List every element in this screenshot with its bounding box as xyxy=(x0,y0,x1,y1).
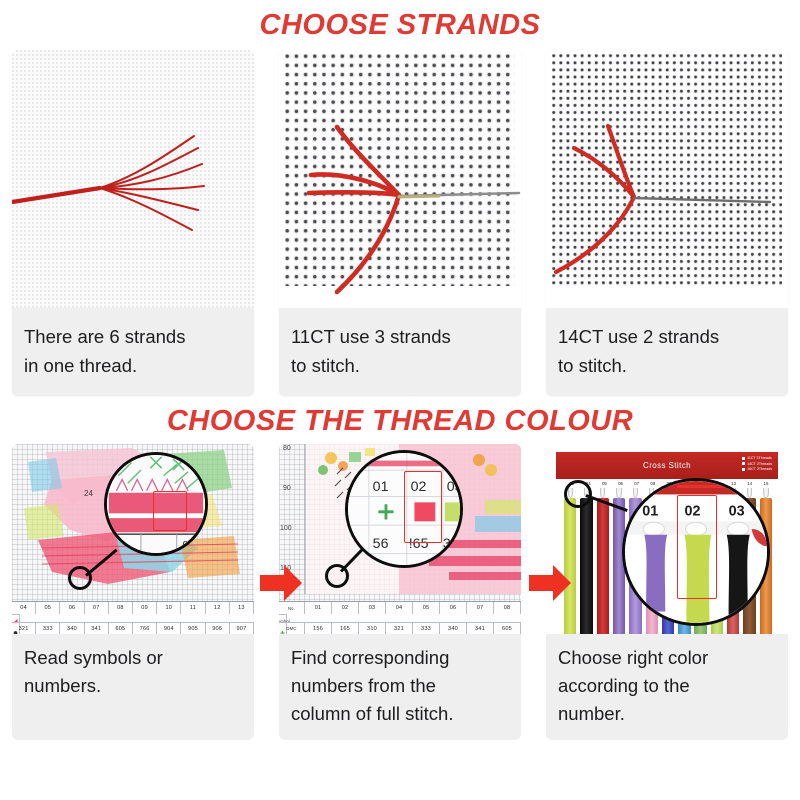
legend-code-cell: 906 xyxy=(206,623,230,634)
legend-number-cell: 13 xyxy=(230,602,254,614)
caption-line-1: There are 6 strands xyxy=(24,322,242,351)
magnifier-source-circle xyxy=(68,566,92,590)
legend-swatch xyxy=(742,457,745,460)
legend-number-cell: 07 xyxy=(85,602,109,614)
legend-item: 11CT 3Threads xyxy=(742,456,772,460)
legend-code-cell: 156 xyxy=(305,623,332,634)
legend-number-cell: 12 xyxy=(206,602,230,614)
colour-card-row: 24 xyxy=(0,444,800,740)
legend-code-cell: 333 xyxy=(36,623,60,634)
red-highlight-box xyxy=(153,491,187,531)
legend-number-cell: 07 xyxy=(467,602,494,614)
svg-text:24: 24 xyxy=(84,489,93,498)
caption-line-2: numbers. xyxy=(24,672,244,700)
card-caption-choose-color: Choose right color according to the numb… xyxy=(546,634,788,740)
svg-text:03: 03 xyxy=(729,504,745,520)
legend-label: 16CT 2Threads xyxy=(747,467,772,471)
card-caption-read-symbols: Read symbols or numbers. xyxy=(12,634,254,712)
magnifier-circle-pattern: 6 07 xyxy=(104,452,208,556)
caption-line-2: numbers from the xyxy=(291,672,511,700)
legend-code-cell: 341 xyxy=(85,623,109,634)
card-choose-color[interactable]: Cross Stitch 11CT 3Threads 14CT 2Threads xyxy=(546,444,788,740)
svg-text:90: 90 xyxy=(283,485,291,492)
card-caption-six-strands: There are 6 strands in one thread. xyxy=(12,308,254,396)
legend-code-cell: 321 xyxy=(12,623,36,634)
legend-number-cell: 06 xyxy=(60,602,84,614)
card-11ct[interactable]: 11CT use 3 strands to stitch. xyxy=(279,50,521,396)
card-caption-find-numbers: Find corresponding numbers from the colu… xyxy=(279,634,521,740)
caption-line-3: number. xyxy=(558,700,778,728)
skein-hook xyxy=(763,488,768,498)
legend-number-cell: 09 xyxy=(133,602,157,614)
legend-code-cell: 605 xyxy=(109,623,133,634)
red-highlight-box xyxy=(677,495,717,599)
svg-text:80: 80 xyxy=(283,445,291,452)
legend-number-cell: 04 xyxy=(386,602,413,614)
red-highlight-box xyxy=(404,471,442,543)
legend-code-cell: 321 xyxy=(386,623,413,634)
thread-card-title: Cross Stitch xyxy=(643,461,691,470)
legend-code-cell: 340 xyxy=(60,623,84,634)
right-arrow-icon xyxy=(527,560,573,606)
caption-line-1: Read symbols or xyxy=(24,644,244,672)
legend-row-symbols xyxy=(12,614,20,622)
legend-number-cell: 08 xyxy=(109,602,133,614)
needle-icon xyxy=(634,198,770,202)
legend-number-cell: 05 xyxy=(413,602,440,614)
card-find-numbers[interactable]: 80 90 100 110 xyxy=(279,444,521,740)
legend-row-codes: 321 333 340 341 605 766 904 905 906 907 xyxy=(12,622,254,634)
caption-line-1: Find corresponding xyxy=(291,644,511,672)
skein-hook xyxy=(633,488,638,498)
caption-line-2: in one thread. xyxy=(24,351,242,380)
strand-card-row: There are 6 strands in one thread. xyxy=(0,50,800,396)
full-stitch-legend-table: No. 01 02 03 04 05 06 07 08 Symbol xyxy=(279,601,521,634)
infographic-page: CHOOSE STRANDS xyxy=(0,0,800,800)
legend-code-cell: 333 xyxy=(413,623,440,634)
legend-number-cell: 11 xyxy=(181,602,205,614)
three-strands-with-needle-illustration xyxy=(279,50,521,308)
caption-line-1: 11CT use 3 strands xyxy=(291,322,509,351)
magnifier-circle-thread-card: 01 02 03 xyxy=(622,478,770,626)
legend-swatch xyxy=(742,462,745,465)
full-stitch-column-photo: 80 90 100 110 xyxy=(279,444,521,634)
skein-body xyxy=(597,498,609,634)
card-14ct[interactable]: 14CT use 2 strands to stitch. xyxy=(546,50,788,396)
thread-card-header: Cross Stitch 11CT 3Threads 14CT 2Threads xyxy=(556,452,778,479)
card-caption-11ct: 11CT use 3 strands to stitch. xyxy=(279,308,521,396)
thread-skein[interactable] xyxy=(578,488,594,634)
needle-icon xyxy=(399,193,519,197)
caption-line-3: column of full stitch. xyxy=(291,700,511,728)
legend-row-codes: DMC 156 165 310 321 333 340 341 605 xyxy=(279,622,521,634)
skein-hook xyxy=(747,488,752,498)
card-read-symbols[interactable]: 24 xyxy=(12,444,254,740)
legend-number-cell: 03 xyxy=(359,602,386,614)
pattern-legend-table: 04 05 06 07 08 09 10 11 12 13 xyxy=(12,601,254,634)
caption-line-2: to stitch. xyxy=(291,351,509,380)
legend-row-label: DMC xyxy=(279,623,305,634)
six-strands-illustration xyxy=(12,50,254,308)
legend-number-cell: 04 xyxy=(12,602,36,614)
arrow-step-2-3 xyxy=(527,560,573,606)
svg-text:100: 100 xyxy=(280,525,292,532)
right-arrow-icon xyxy=(258,560,304,606)
skein-hook xyxy=(600,488,605,498)
skein-body xyxy=(580,498,592,634)
caption-line-2: according to the xyxy=(558,672,778,700)
11ct-fabric-photo xyxy=(279,50,521,308)
skein-hook xyxy=(616,488,621,498)
legend-code-cell: 905 xyxy=(181,623,205,634)
legend-code-cell: 766 xyxy=(133,623,157,634)
legend-code-cell: 340 xyxy=(440,623,467,634)
six-strand-thread-photo xyxy=(12,50,254,308)
legend-number-cell: 06 xyxy=(440,602,467,614)
red-top-bar xyxy=(677,485,765,488)
legend-label: 14CT 2Threads xyxy=(747,462,772,466)
legend-number-cell: 05 xyxy=(36,602,60,614)
thread-card-legend: 11CT 3Threads 14CT 2Threads 16CT 2Thread… xyxy=(742,456,772,471)
caption-line-1: 14CT use 2 strands xyxy=(558,322,776,351)
legend-number-cell: 08 xyxy=(494,602,521,614)
arrow-step-1-2 xyxy=(258,560,304,606)
14ct-fabric-photo xyxy=(546,50,788,308)
caption-line-2: to stitch. xyxy=(558,351,776,380)
legend-number-cell: 10 xyxy=(157,602,181,614)
thread-card-photo: Cross Stitch 11CT 3Threads 14CT 2Threads xyxy=(546,444,788,634)
legend-label: 11CT 3Threads xyxy=(747,456,772,460)
legend-number-cell: 01 xyxy=(305,602,332,614)
legend-code-cell: 904 xyxy=(157,623,181,634)
page-title-choose-strands: CHOOSE STRANDS xyxy=(0,0,800,46)
legend-swatch xyxy=(742,468,745,471)
thread-skein[interactable] xyxy=(595,488,611,634)
caption-line-1: Choose right color xyxy=(558,644,778,672)
legend-code-cell: 605 xyxy=(494,623,521,634)
two-strands-with-needle-illustration xyxy=(546,50,788,308)
legend-number-cell: 02 xyxy=(332,602,359,614)
svg-text:01: 01 xyxy=(373,479,389,495)
legend-code-cell: 165 xyxy=(332,623,359,634)
legend-code-cell: 907 xyxy=(230,623,254,634)
svg-text:56: 56 xyxy=(373,536,389,552)
card-six-strands[interactable]: There are 6 strands in one thread. xyxy=(12,50,254,396)
legend-row-symbols: Symbol xyxy=(279,614,287,622)
legend-code-cell: 310 xyxy=(359,623,386,634)
legend-item: 14CT 2Threads xyxy=(742,462,772,466)
legend-row-numbers: No. 01 02 03 04 05 06 07 08 xyxy=(279,602,521,614)
legend-code-cell: 341 xyxy=(467,623,494,634)
page-title-choose-thread-colour: CHOOSE THE THREAD COLOUR xyxy=(0,396,800,442)
card-caption-14ct: 14CT use 2 strands to stitch. xyxy=(546,308,788,396)
legend-row-numbers: 04 05 06 07 08 09 10 11 12 13 xyxy=(12,602,254,614)
legend-item: 16CT 2Threads xyxy=(742,467,772,471)
svg-text:01: 01 xyxy=(642,504,658,520)
pattern-chart-photo: 24 xyxy=(12,444,254,634)
